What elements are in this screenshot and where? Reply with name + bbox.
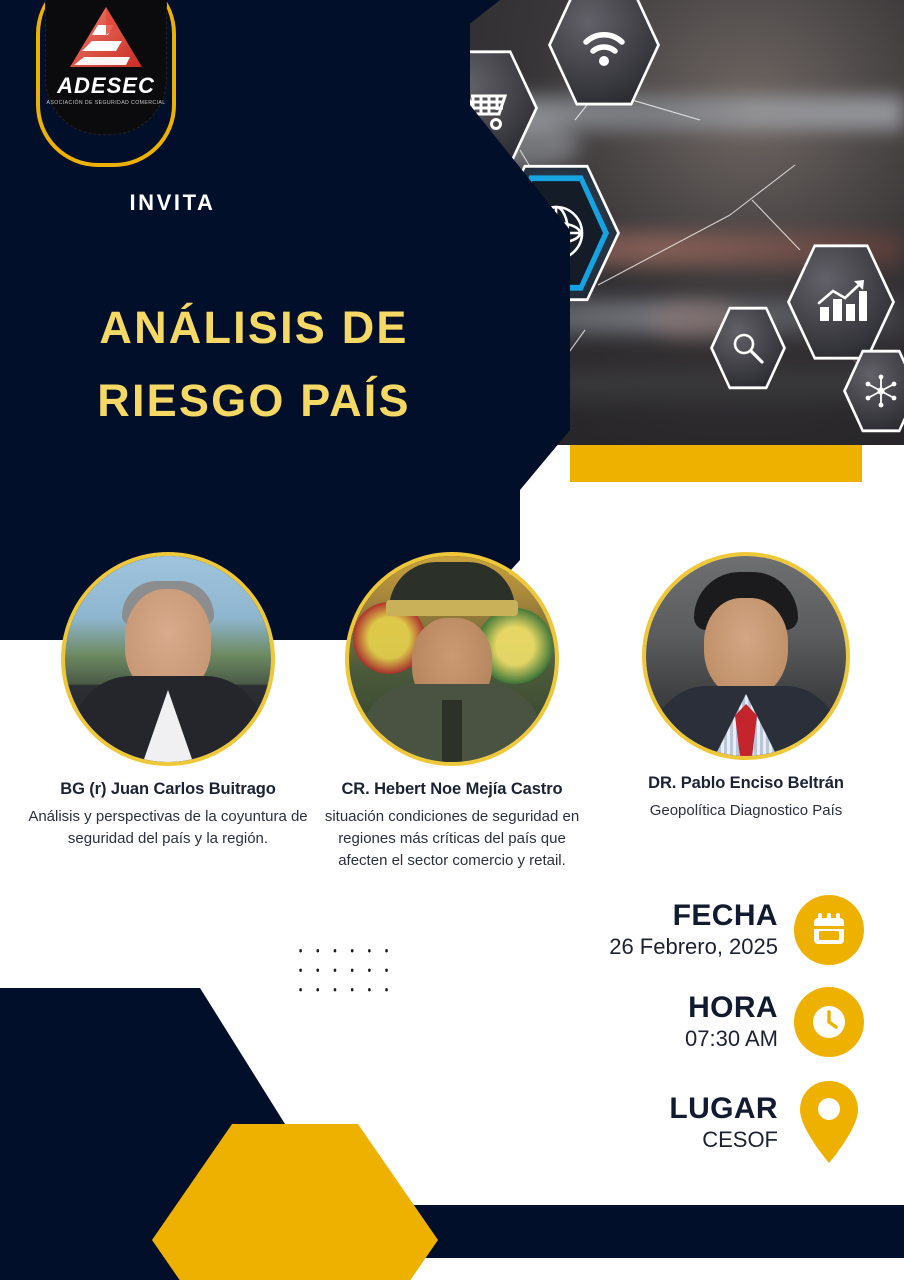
logo-plate: ADESEC ASOCIACIÓN DE SEGURIDAD COMERCIAL [45, 0, 167, 135]
speaker-card: CR. Hebert Noe Mejía Castro situación co… [302, 552, 602, 871]
wifi-glyph [577, 20, 631, 70]
avatar [345, 552, 559, 766]
event-detail-value: 07:30 AM [685, 1026, 778, 1052]
event-detail-row: FECHA 26 Febrero, 2025 [444, 895, 864, 965]
title-line-1: ANÁLISIS DE [0, 292, 508, 365]
adesec-logo: ADESEC ASOCIACIÓN DE SEGURIDAD COMERCIAL [36, 0, 176, 167]
network-nodes-glyph [863, 373, 899, 409]
calendar-icon [794, 895, 864, 965]
event-poster: SMART RETAIL [0, 0, 904, 1280]
location-pin-glyph [798, 1079, 860, 1165]
magnifier-glyph [731, 331, 765, 365]
event-detail-row: HORA 07:30 AM [444, 987, 864, 1057]
speaker-description: situación condiciones de seguridad en re… [302, 806, 602, 871]
bar-chart-glyph [814, 279, 868, 325]
speaker-description: Análisis y perspectivas de la coyuntura … [18, 806, 318, 850]
logo-subtitle: ASOCIACIÓN DE SEGURIDAD COMERCIAL [47, 100, 166, 106]
speaker-card: DR. Pablo Enciso Beltrán Geopolítica Dia… [596, 552, 896, 822]
clock-glyph [808, 1001, 850, 1043]
speaker-name: CR. Hebert Noe Mejía Castro [302, 780, 602, 799]
portrait-juan-carlos-buitrago [65, 556, 271, 762]
event-detail-text: LUGAR CESOF [669, 1093, 778, 1153]
avatar [61, 552, 275, 766]
event-detail-value: CESOF [669, 1127, 778, 1153]
speaker-description: Geopolítica Diagnostico País [596, 800, 896, 822]
event-detail-label: HORA [685, 992, 778, 1024]
speaker-name: BG (r) Juan Carlos Buitrago [18, 780, 318, 799]
calendar-glyph [809, 910, 849, 950]
portrait-pablo-enciso-beltran [646, 556, 846, 756]
adesec-triangle-logo-icon [68, 5, 144, 71]
page-title: ANÁLISIS DE RIESGO PAÍS [0, 292, 508, 438]
speakers-section: BG (r) Juan Carlos Buitrago Análisis y p… [0, 552, 904, 902]
dot-grid-decoration [292, 941, 396, 1001]
speaker-name: DR. Pablo Enciso Beltrán [596, 774, 896, 793]
event-detail-text: HORA 07:30 AM [685, 992, 778, 1052]
event-detail-row: LUGAR CESOF [444, 1079, 864, 1167]
event-detail-value: 26 Febrero, 2025 [609, 934, 778, 960]
portrait-hebert-noe-mejia-castro [349, 556, 555, 762]
avatar [642, 552, 850, 760]
event-detail-label: FECHA [609, 900, 778, 932]
logo-wordmark: ADESEC [57, 75, 155, 97]
location-pin-icon [794, 1079, 864, 1167]
yellow-accent-bar [570, 445, 862, 482]
invita-label: INVITA [0, 190, 345, 216]
event-detail-text: FECHA 26 Febrero, 2025 [609, 900, 778, 960]
title-line-2: RIESGO PAÍS [0, 365, 508, 438]
speaker-card: BG (r) Juan Carlos Buitrago Análisis y p… [18, 552, 318, 850]
event-detail-label: LUGAR [669, 1093, 778, 1125]
clock-icon [794, 987, 864, 1057]
event-details: FECHA 26 Febrero, 2025 HORA [444, 895, 864, 1189]
